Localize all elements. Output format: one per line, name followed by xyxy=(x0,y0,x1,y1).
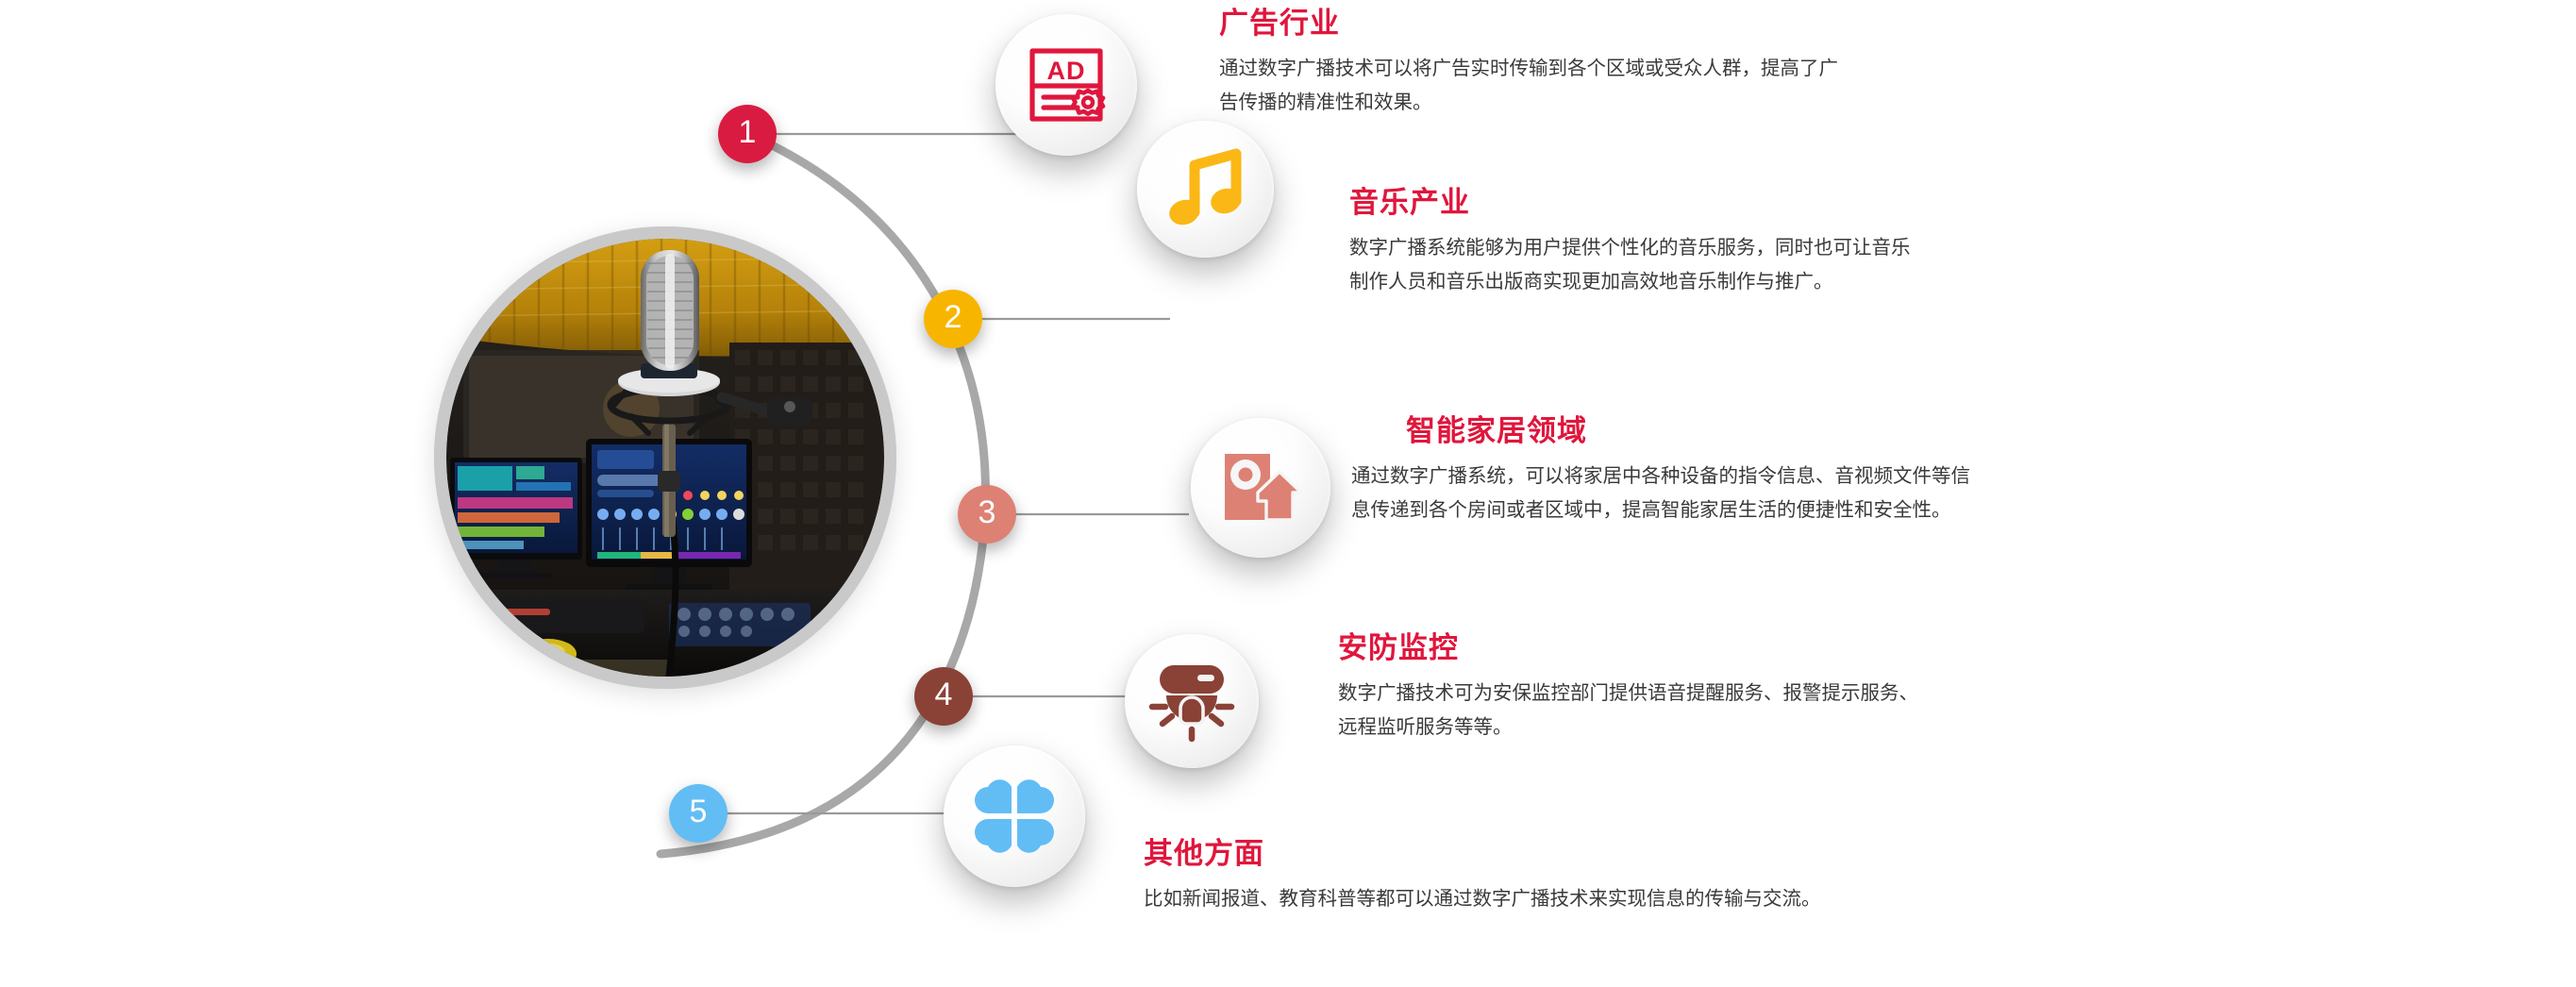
heading-other: 其他方面 xyxy=(1144,838,1821,870)
security-camera-icon xyxy=(1148,660,1235,743)
icon-bubble-other[interactable] xyxy=(944,745,1085,887)
heading-smart-home: 智能家居领域 xyxy=(1406,415,1970,447)
step-badge-3-number: 3 xyxy=(979,496,996,528)
step-badge-4[interactable]: 4 xyxy=(914,667,973,726)
body-security: 数字广播技术可为安保监控部门提供语音提醒服务、报警提示服务、 远程监听服务等等。 xyxy=(1338,677,1918,744)
heading-music: 音乐产业 xyxy=(1349,187,1911,219)
text-block-music: 音乐产业 数字广播系统能够为用户提供个性化的音乐服务，同时也可让音乐 制作人员和… xyxy=(1349,187,1911,299)
step-badge-3[interactable]: 3 xyxy=(958,485,1016,544)
step-badge-1[interactable]: 1 xyxy=(718,105,777,163)
icon-bubble-smart-home[interactable] xyxy=(1191,418,1330,558)
heading-security: 安防监控 xyxy=(1338,632,1918,664)
icon-bubble-music[interactable] xyxy=(1137,121,1274,258)
body-advertising: 通过数字广播技术可以将广告实时传输到各个区域或受众人群，提高了广 告传播的精准性… xyxy=(1219,52,1838,120)
svg-text:AD: AD xyxy=(1047,57,1086,85)
four-petal-clover-icon xyxy=(973,775,1056,858)
step-badge-4-number: 4 xyxy=(935,678,953,711)
music-note-icon xyxy=(1166,146,1246,233)
icon-bubble-security[interactable] xyxy=(1125,634,1259,768)
text-block-advertising: 广告行业 通过数字广播技术可以将广告实时传输到各个区域或受众人群，提高了广 告传… xyxy=(1219,8,1838,120)
body-other: 比如新闻报道、教育科普等都可以通过数字广播技术来实现信息的传输与交流。 xyxy=(1144,882,1821,916)
step-badge-1-number: 1 xyxy=(739,116,757,148)
step-badge-2[interactable]: 2 xyxy=(924,290,982,348)
heading-advertising: 广告行业 xyxy=(1219,8,1838,40)
step-badge-2-number: 2 xyxy=(945,301,962,333)
body-music: 数字广播系统能够为用户提供个性化的音乐服务，同时也可让音乐 制作人员和音乐出版商… xyxy=(1349,231,1911,299)
icon-bubble-advertising[interactable]: AD xyxy=(995,14,1137,156)
step-badge-5-number: 5 xyxy=(690,795,708,828)
text-block-smart-home: 智能家居领域 通过数字广播系统，可以将家居中各种设备的指令信息、音视频文件等信 … xyxy=(1351,415,1970,527)
body-smart-home: 通过数字广播系统，可以将家居中各种设备的指令信息、音视频文件等信 息传递到各个房… xyxy=(1351,460,1970,527)
step-badge-5[interactable]: 5 xyxy=(669,784,728,843)
ad-settings-icon: AD xyxy=(1023,42,1110,128)
text-block-security: 安防监控 数字广播技术可为安保监控部门提供语音提醒服务、报警提示服务、 远程监听… xyxy=(1338,632,1918,744)
center-photo xyxy=(434,226,896,689)
infographic-canvas: 1 2 3 4 5 AD xyxy=(0,0,2576,987)
photo-ring xyxy=(434,226,896,689)
smart-home-speaker-icon xyxy=(1217,446,1304,529)
text-block-other: 其他方面 比如新闻报道、教育科普等都可以通过数字广播技术来实现信息的传输与交流。 xyxy=(1144,838,1821,916)
